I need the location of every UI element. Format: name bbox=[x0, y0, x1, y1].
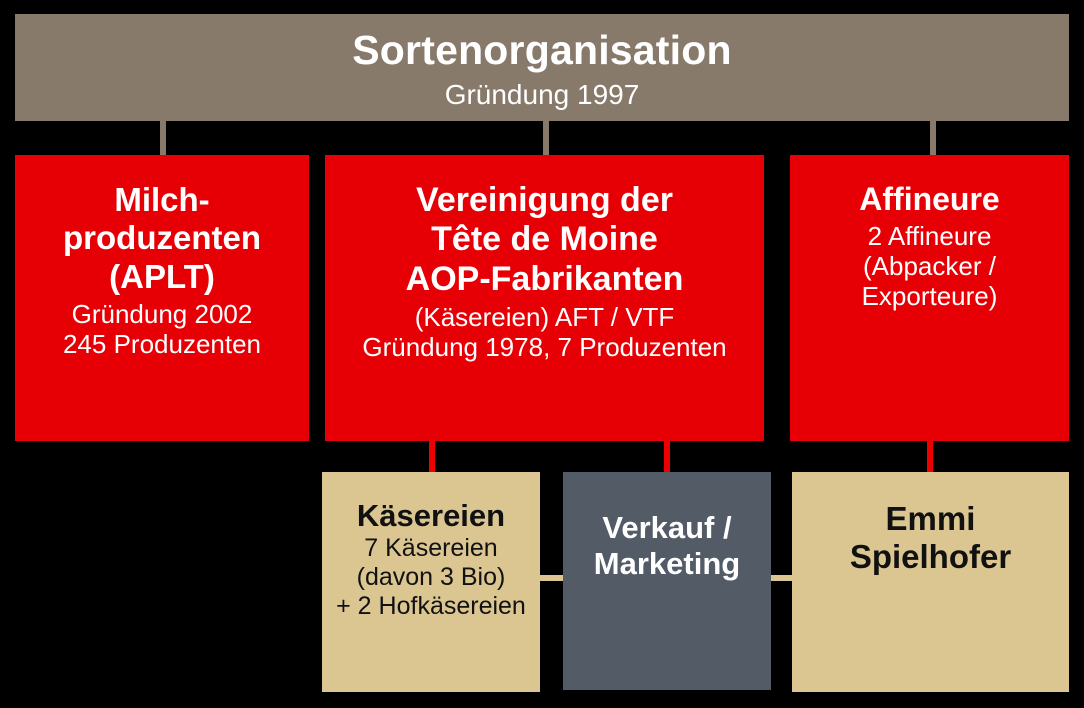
node-vereinigung-details: (Käsereien) AFT / VTF Gründung 1978, 7 P… bbox=[362, 302, 726, 362]
connector-header-to-vereinigung bbox=[543, 121, 549, 155]
node-affineure: Affineure 2 Affineure (Abpacker / Export… bbox=[790, 155, 1069, 441]
node-kaesereien: Käsereien 7 Käsereien (davon 3 Bio) + 2 … bbox=[322, 472, 540, 692]
connector-header-to-milchproduzenten bbox=[160, 121, 166, 155]
header-subtitle: Gründung 1997 bbox=[445, 79, 640, 111]
node-vereinigung-heading: Vereinigung der Tête de Moine AOP-Fabrik… bbox=[406, 181, 684, 299]
node-milchproduzenten-details: Gründung 2002 245 Produzenten bbox=[63, 299, 261, 359]
node-emmi-spielhofer: Emmi Spielhofer bbox=[792, 472, 1069, 692]
node-milchproduzenten-heading: Milch- produzenten (APLT) bbox=[63, 181, 261, 296]
node-verkauf-marketing-heading: Verkauf / Marketing bbox=[594, 510, 740, 582]
header-title: Sortenorganisation bbox=[352, 27, 731, 75]
node-milchproduzenten: Milch- produzenten (APLT) Gründung 2002 … bbox=[15, 155, 309, 441]
node-kaesereien-details: 7 Käsereien (davon 3 Bio) + 2 Hofkäserei… bbox=[336, 534, 526, 621]
node-affineure-details: 2 Affineure (Abpacker / Exporteure) bbox=[862, 221, 998, 311]
node-vereinigung-aop-fabrikanten: Vereinigung der Tête de Moine AOP-Fabrik… bbox=[325, 155, 764, 441]
node-kaesereien-heading: Käsereien bbox=[357, 498, 505, 534]
connector-vereinigung-to-kaesereien bbox=[429, 441, 435, 472]
connector-vereinigung-to-verkauf bbox=[664, 441, 670, 472]
node-verkauf-marketing: Verkauf / Marketing bbox=[563, 472, 771, 690]
connector-kaesereien-to-verkauf bbox=[540, 575, 563, 581]
header-node-sortenorganisation: Sortenorganisation Gründung 1997 bbox=[15, 14, 1069, 121]
connector-header-to-affineure bbox=[930, 121, 936, 155]
node-emmi-spielhofer-heading: Emmi Spielhofer bbox=[850, 500, 1011, 577]
node-affineure-heading: Affineure bbox=[859, 181, 999, 218]
org-chart-diagram: Sortenorganisation Gründung 1997 Milch- … bbox=[0, 0, 1084, 708]
connector-verkauf-to-emmi bbox=[771, 575, 792, 581]
connector-affineure-to-emmi bbox=[927, 441, 933, 472]
